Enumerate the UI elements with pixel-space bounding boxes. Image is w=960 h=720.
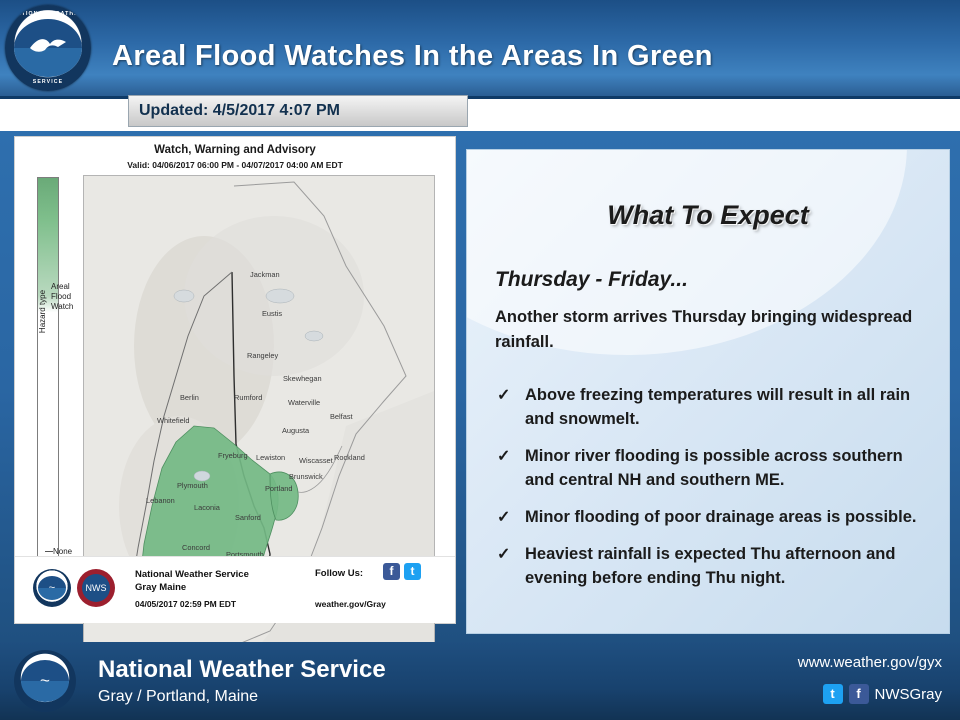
map-city-label: Brunswick xyxy=(289,472,323,481)
map-footer-website[interactable]: weather.gov/Gray xyxy=(315,599,386,609)
map-city-label: Augusta xyxy=(282,426,309,435)
map-city-label: Whitefield xyxy=(157,416,189,425)
map-city-label: Portland xyxy=(265,484,293,493)
map-valid-time: Valid: 04/06/2017 06:00 PM - 04/07/2017 … xyxy=(15,160,455,170)
map-footer-office: National Weather Service Gray Maine xyxy=(135,568,249,594)
map-city-label: Lewiston xyxy=(256,453,285,462)
forecast-bullet-list: ✓ Above freezing temperatures will resul… xyxy=(495,383,935,603)
map-footer-office-line2: Gray Maine xyxy=(135,581,249,594)
map-footer-office-line1: National Weather Service xyxy=(135,568,249,581)
updated-bar: Updated: 4/5/2017 4:07 PM xyxy=(128,95,468,127)
map-city-label: Belfast xyxy=(330,412,353,421)
noaa-logo-ring-top: NATIONAL WEATHER xyxy=(5,11,91,17)
map-city-label: Sanford xyxy=(235,513,261,522)
map-city-label: Jackman xyxy=(250,270,280,279)
facebook-icon[interactable]: f xyxy=(849,684,869,704)
footer-bar: ~ National Weather Service Gray / Portla… xyxy=(0,642,960,720)
updated-timestamp: Updated: 4/5/2017 4:07 PM xyxy=(139,102,340,120)
forecast-bullet-item: ✓ Minor flooding of poor drainage areas … xyxy=(495,505,935,529)
footer-office-name: National Weather Service xyxy=(98,656,386,684)
map-legend: Hazard type Areal Flood Watch None xyxy=(37,177,59,607)
nws-logo-icon-small: NWS xyxy=(77,569,115,607)
forecast-bullet-text: Heaviest rainfall is expected Thu aftern… xyxy=(525,545,895,587)
forecast-bullet-item: ✓ Heaviest rainfall is expected Thu afte… xyxy=(495,542,935,590)
forecast-bullet-text: Above freezing temperatures will result … xyxy=(525,386,910,428)
footer-website-url[interactable]: www.weather.gov/gyx xyxy=(798,654,942,671)
map-city-label: Waterville xyxy=(288,398,320,407)
map-city-label: Wiscasset xyxy=(299,456,333,465)
forecast-bullet-item: ✓ Minor river flooding is possible acros… xyxy=(495,444,935,492)
legend-tick xyxy=(45,551,53,552)
map-city-label: Plymouth xyxy=(177,481,208,490)
noaa-logo-inner xyxy=(14,19,82,77)
forecast-bullet-text: Minor river flooding is possible across … xyxy=(525,447,903,489)
hazard-map-panel: Watch, Warning and Advisory Valid: 04/06… xyxy=(14,136,456,624)
map-footer: ~ NWS National Weather Service Gray Main… xyxy=(15,556,455,623)
twitter-icon[interactable]: t xyxy=(404,563,421,580)
map-city-label: Rockland xyxy=(334,453,365,462)
facebook-icon[interactable]: f xyxy=(383,563,400,580)
check-icon: ✓ xyxy=(497,384,510,408)
what-to-expect-title: What To Expect xyxy=(467,200,949,231)
header-bar: NATIONAL WEATHER SERVICE Areal Flood Wat… xyxy=(0,0,960,99)
map-city-label: Lebanon xyxy=(146,496,175,505)
forecast-period: Thursday - Friday... xyxy=(495,268,688,292)
map-city-label: Eustis xyxy=(262,309,282,318)
check-icon: ✓ xyxy=(497,445,510,469)
what-to-expect-panel: What To Expect Thursday - Friday... Anot… xyxy=(466,149,950,634)
page-title: Areal Flood Watches In the Areas In Gree… xyxy=(112,40,713,73)
noaa-logo-ring-bottom: SERVICE xyxy=(5,79,91,85)
map-city-label: Concord xyxy=(182,543,210,552)
footer-office-city: Gray / Portland, Maine xyxy=(98,688,258,706)
legend-axis-label: Hazard type xyxy=(38,290,47,333)
check-icon: ✓ xyxy=(497,506,510,530)
map-footer-follow-label: Follow Us: xyxy=(315,568,363,579)
map-city-label: Rumford xyxy=(234,393,262,402)
footer-social-links: t f NWSGray xyxy=(823,684,943,704)
forecast-bullet-text: Minor flooding of poor drainage areas is… xyxy=(525,508,916,526)
legend-none-label: None xyxy=(53,547,72,556)
noaa-logo-icon-footer: ~ xyxy=(14,650,76,712)
noaa-logo-icon: NATIONAL WEATHER SERVICE xyxy=(5,5,91,91)
map-city-label: Rangeley xyxy=(247,351,278,360)
map-city-label: Fryeburg xyxy=(218,451,248,460)
nws-logo-inner-small: NWS xyxy=(82,574,110,602)
forecast-lead-text: Another storm arrives Thursday bringing … xyxy=(495,305,927,355)
twitter-icon[interactable]: t xyxy=(823,684,843,704)
footer-social-handle[interactable]: NWSGray xyxy=(875,686,943,703)
map-city-label: Berlin xyxy=(180,393,199,402)
forecast-bullet-item: ✓ Above freezing temperatures will resul… xyxy=(495,383,935,431)
map-city-label: Laconia xyxy=(194,503,220,512)
map-city-label: Skewhegan xyxy=(283,374,322,383)
seagull-icon xyxy=(28,35,68,55)
noaa-logo-icon-small: ~ xyxy=(33,569,71,607)
map-title: Watch, Warning and Advisory xyxy=(15,144,455,156)
weather-briefing-slide: NATIONAL WEATHER SERVICE Areal Flood Wat… xyxy=(0,0,960,720)
check-icon: ✓ xyxy=(497,543,510,567)
noaa-logo-inner-small: ~ xyxy=(38,576,66,600)
map-footer-issued: 04/05/2017 02:59 PM EDT xyxy=(135,599,236,609)
legend-color-bar xyxy=(37,177,59,599)
noaa-logo-inner-footer: ~ xyxy=(21,660,69,702)
